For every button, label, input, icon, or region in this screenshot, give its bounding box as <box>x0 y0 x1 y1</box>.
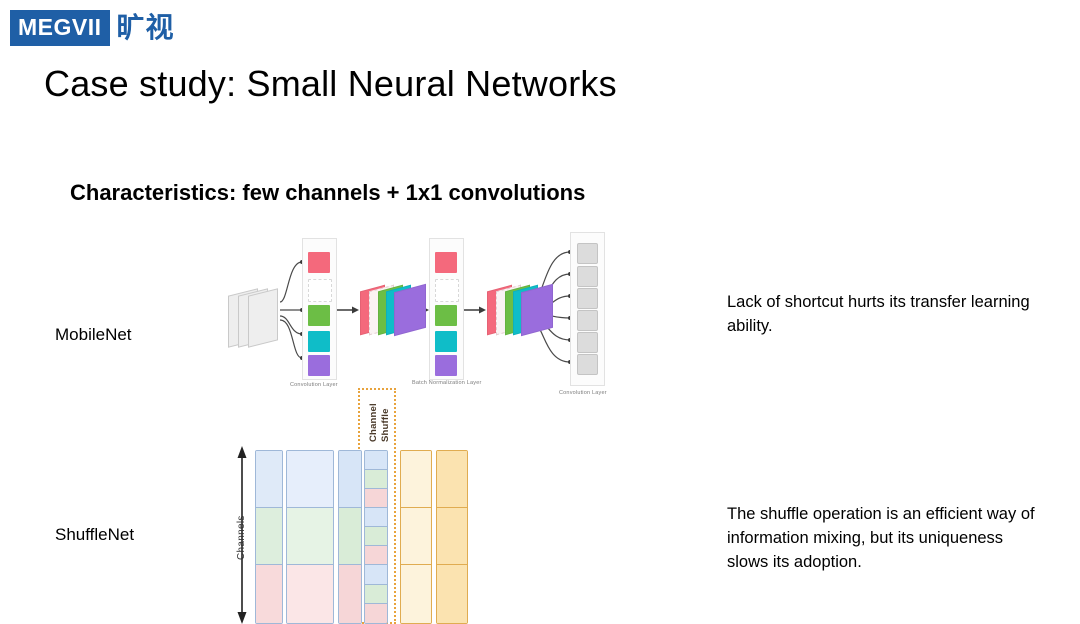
output-feature-square <box>577 310 598 331</box>
row-label-mobilenet: MobileNet <box>55 325 132 345</box>
shufflenet-column-gconv-output <box>338 450 362 624</box>
channel-segment <box>256 565 282 623</box>
channel-segment <box>365 489 387 508</box>
channel-chip-red <box>435 252 457 273</box>
channel-chip-empty <box>435 279 459 302</box>
channel-segment <box>401 565 431 623</box>
channel-segment <box>437 565 467 623</box>
shufflenet-column-shuffled <box>364 450 388 624</box>
filter-card-purple <box>394 284 426 337</box>
caption-convolution-layer-2: Convolution Layer <box>559 390 607 396</box>
subtitle-text: Characteristics: few channels + 1x1 conv… <box>70 180 585 206</box>
channel-segment <box>365 470 387 489</box>
channel-segment <box>365 451 387 470</box>
channel-segment <box>437 451 467 508</box>
channel-segment <box>365 527 387 546</box>
channels-axis-arrow <box>228 390 258 620</box>
channel-chip-empty <box>308 279 332 302</box>
channel-segment <box>365 546 387 565</box>
output-feature-square <box>577 354 598 375</box>
channel-shuffle-label-line1: Channel <box>368 403 379 442</box>
convolution-layer-2-box <box>570 232 605 386</box>
channel-chip-green <box>308 305 330 326</box>
output-feature-square <box>577 243 598 264</box>
channel-segment <box>437 508 467 565</box>
note-shufflenet: The shuffle operation is an efficient wa… <box>727 503 1047 575</box>
channel-shuffle-label-line2: Shuffle <box>380 408 391 442</box>
note-mobilenet: Lack of shortcut hurts its transfer lear… <box>727 291 1047 339</box>
channel-segment <box>256 508 282 565</box>
row-label-shufflenet: ShuffleNet <box>55 525 134 545</box>
channel-chip-cyan <box>435 331 457 352</box>
caption-batch-norm-layer: Batch Normalization Layer <box>412 380 482 386</box>
channel-segment <box>287 565 333 623</box>
output-feature-square <box>577 288 598 309</box>
channel-chip-green <box>435 305 457 326</box>
logo-wordmark: MEGVII <box>10 10 110 46</box>
channel-segment <box>365 604 387 623</box>
mobilenet-diagram: Convolution Layer Batch Normalization La… <box>222 230 652 395</box>
page-title: Case study: Small Neural Networks <box>44 63 617 105</box>
channel-segment <box>339 565 361 623</box>
caption-convolution-layer-1: Convolution Layer <box>290 382 338 388</box>
channel-segment <box>256 451 282 508</box>
convolution-layer-1-box <box>302 238 337 380</box>
shufflenet-column-output-2 <box>436 450 468 624</box>
channel-segment <box>339 508 361 565</box>
output-feature-square <box>577 332 598 353</box>
shufflenet-column-input-group-1 <box>255 450 283 624</box>
channel-segment <box>365 585 387 604</box>
channel-segment <box>287 508 333 565</box>
channel-chip-purple <box>435 355 457 376</box>
filter-card-purple <box>521 284 553 337</box>
channel-chip-purple <box>308 355 330 376</box>
channel-segment <box>365 565 387 584</box>
logo-chinese-name: 旷视 <box>117 14 175 42</box>
batch-norm-layer-box <box>429 238 464 380</box>
channel-chip-cyan <box>308 331 330 352</box>
shufflenet-column-output-1 <box>400 450 432 624</box>
channel-segment <box>365 508 387 527</box>
channel-segment <box>287 451 333 508</box>
axis-label-channels: Channels <box>236 515 247 560</box>
channel-segment <box>401 451 431 508</box>
output-feature-square <box>577 266 598 287</box>
channel-segment <box>339 451 361 508</box>
channel-segment <box>401 508 431 565</box>
megvii-logo: MEGVII 旷视 <box>10 10 175 46</box>
shufflenet-column-input-group-2 <box>286 450 334 624</box>
channel-chip-red <box>308 252 330 273</box>
shufflenet-diagram: Channels Channel Shuffle <box>228 390 488 620</box>
